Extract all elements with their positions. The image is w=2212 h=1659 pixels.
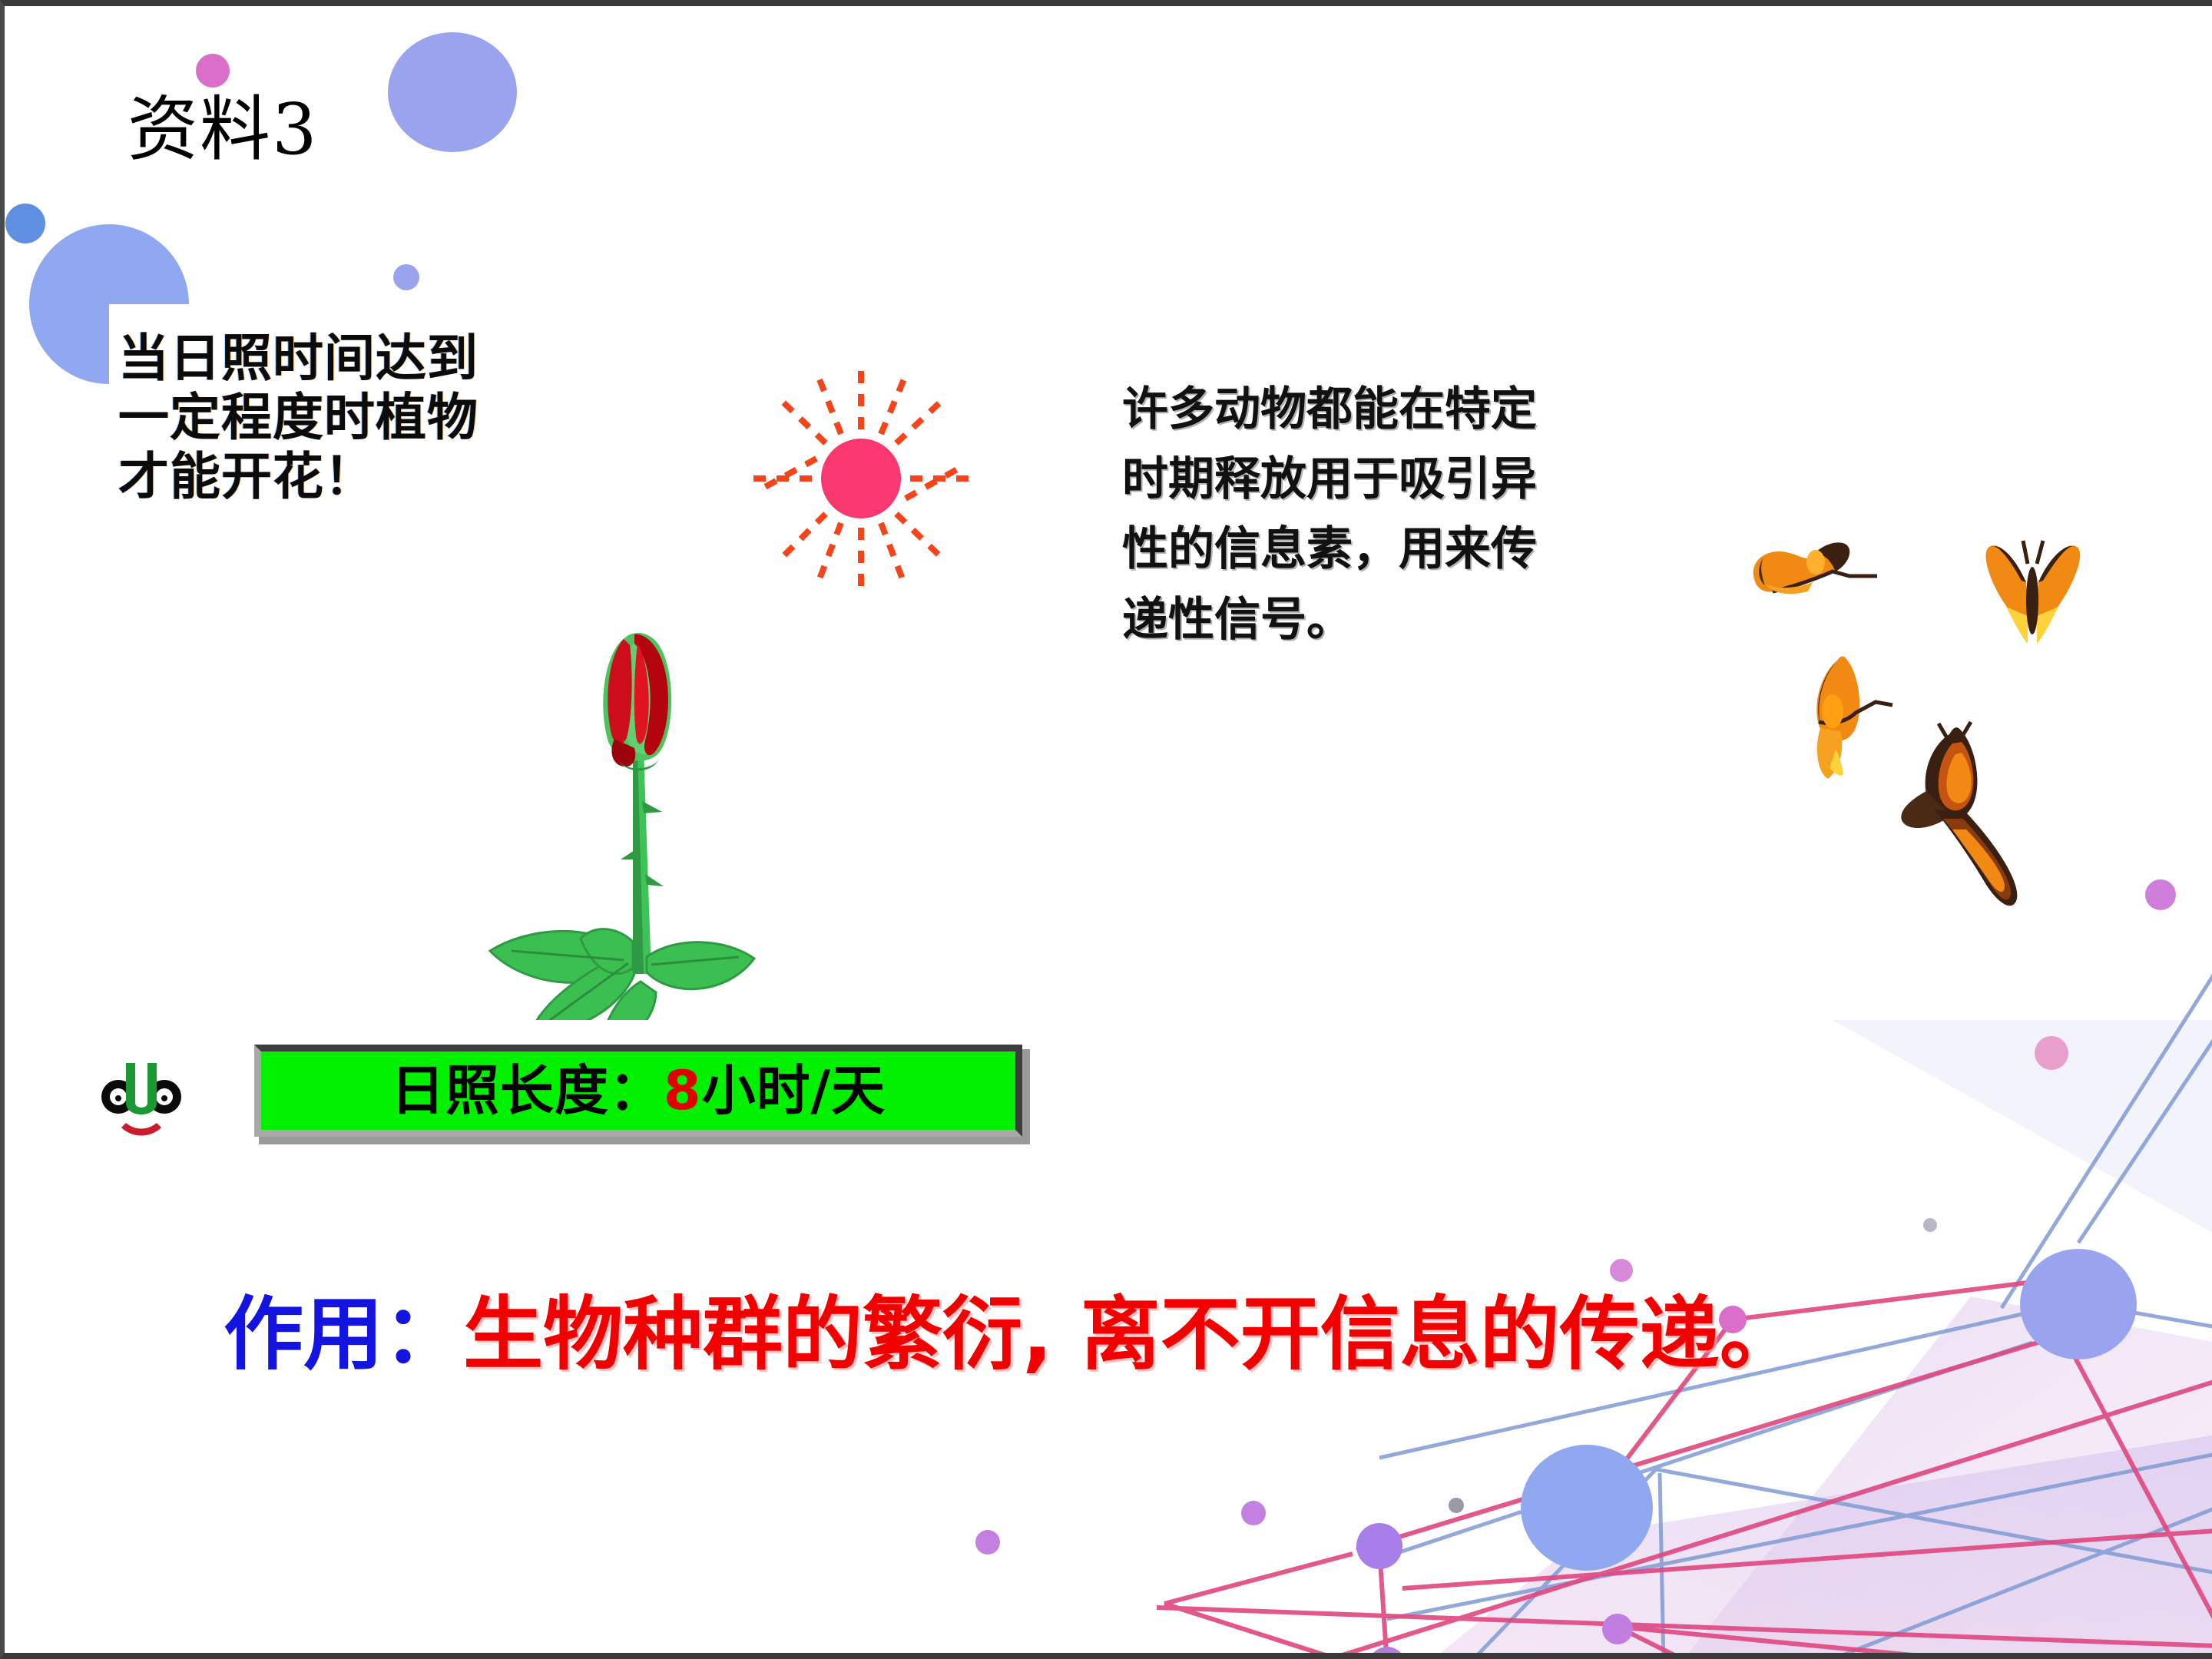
decor-dot xyxy=(1449,1498,1464,1513)
conclusion-label: 作用： xyxy=(224,1287,463,1381)
slide-canvas: 资料3 当日照时间达到一定程度时植物才能开花！ xyxy=(0,0,2212,1659)
decor-dot xyxy=(196,54,230,88)
page-title: 资料3 xyxy=(127,94,319,165)
banner-value: 8 xyxy=(664,1064,702,1118)
animal-pheromone-text: 许多动物都能在特定时期释放用于吸引异性的信息素，用来传递性信号。 xyxy=(1122,375,1552,655)
decor-dot xyxy=(1923,1218,1937,1232)
conclusion-line: 作用：生物种群的繁衍, 离不开信息的传递。 xyxy=(224,1290,1800,1378)
decor-node xyxy=(1356,1523,1402,1569)
decor-node xyxy=(1521,1445,1653,1571)
decor-dot xyxy=(1241,1501,1266,1525)
decor-node xyxy=(1369,1647,1406,1659)
rose-flower-icon xyxy=(450,621,796,1020)
banner-text: 日照长度：8小时/天 xyxy=(391,1064,886,1118)
sunlight-length-banner: 日照长度：8小时/天 xyxy=(254,1045,1030,1144)
decor-dot xyxy=(2035,1036,2068,1070)
decor-polygon xyxy=(1426,1435,2212,1659)
banner-label: 日照长度： xyxy=(391,1064,664,1118)
decor-node xyxy=(1602,1614,1633,1644)
plant-photoperiod-text: 当日照时间达到一定程度时植物才能开花！ xyxy=(118,329,510,507)
conclusion-body: 生物种群的繁衍, 离不开信息的传递。 xyxy=(463,1287,1800,1381)
butterfly-icon-4 xyxy=(1879,720,2032,912)
decor-dot xyxy=(5,204,45,243)
decor-dot xyxy=(393,264,419,290)
banner-body: 日照长度：8小时/天 xyxy=(254,1045,1022,1137)
sun-icon xyxy=(738,356,984,601)
butterfly-icon-1 xyxy=(1742,528,1880,613)
banner-unit: 小时/天 xyxy=(702,1064,886,1118)
decor-dot xyxy=(1610,1259,1633,1282)
decor-polygon xyxy=(1833,1020,2212,1235)
smiley-face-icon xyxy=(101,1060,181,1143)
butterfly-icon-2 xyxy=(1979,536,2086,659)
decor-circle xyxy=(388,32,517,152)
decor-dot xyxy=(975,1530,1000,1555)
decor-node xyxy=(2020,1249,2137,1359)
decor-dot xyxy=(2145,879,2176,910)
